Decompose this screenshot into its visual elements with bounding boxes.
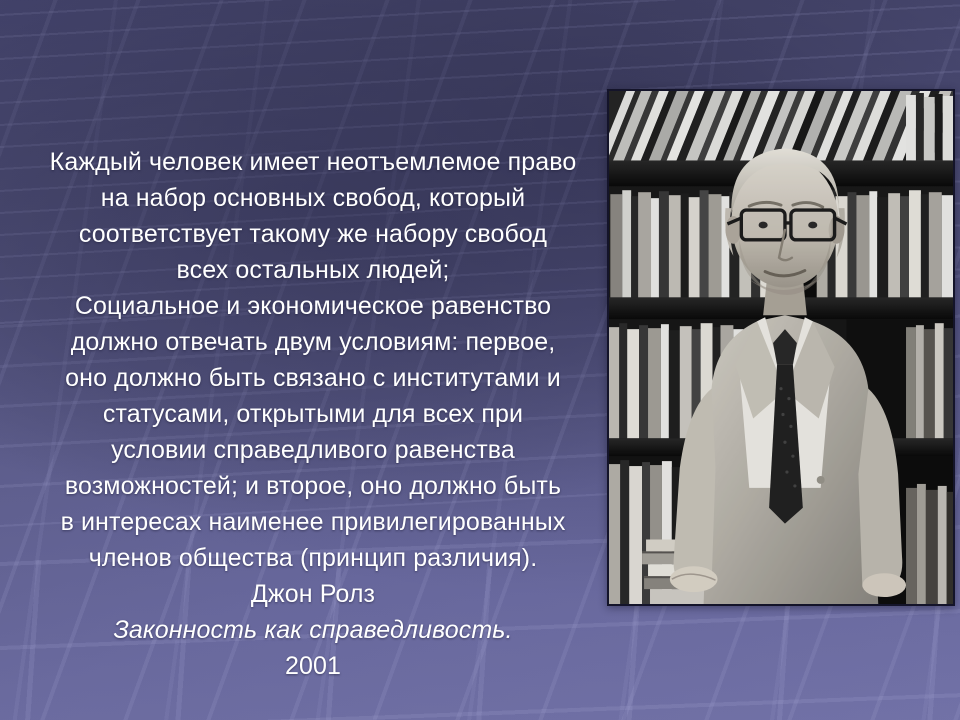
quote-line: возможностей; и второе, оно должно быть: [18, 468, 608, 504]
quote-line: в интересах наименее привилегированных: [18, 504, 608, 540]
quote-line: Законность как справедливость.: [18, 612, 608, 648]
quote-line: должно отвечать двум условиям: первое,: [18, 324, 608, 360]
quote-line: условии справедливого равенства: [18, 432, 608, 468]
presentation-slide: Каждый человек имеет неотъемлемое правон…: [0, 0, 960, 720]
quote-line: статусами, открытыми для всех при: [18, 396, 608, 432]
quote-line: Каждый человек имеет неотъемлемое право: [18, 144, 608, 180]
quote-line: всех остальных людей;: [18, 252, 608, 288]
portrait-photo-image: [609, 91, 953, 604]
quote-line: Джон Ролз: [18, 576, 608, 612]
quote-line: на набор основных свобод, который: [18, 180, 608, 216]
quote-line: 2001: [18, 648, 608, 684]
quote-line: членов общества (принцип различия).: [18, 540, 608, 576]
portrait-photo: [607, 89, 955, 606]
quote-line: Социальное и экономическое равенство: [18, 288, 608, 324]
quote-line: соответствует такому же набору свобод: [18, 216, 608, 252]
quote-line: оно должно быть связано с институтами и: [18, 360, 608, 396]
quote-text-block: Каждый человек имеет неотъемлемое правон…: [18, 144, 608, 684]
